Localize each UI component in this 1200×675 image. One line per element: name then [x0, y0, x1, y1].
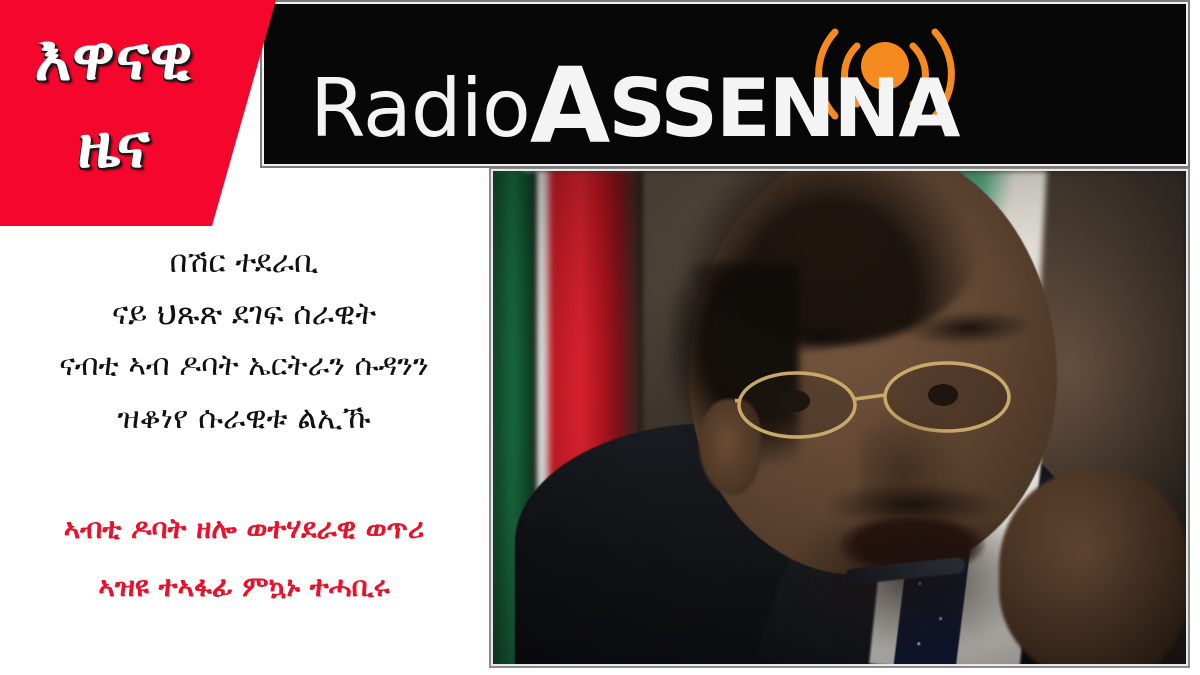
news-thumbnail-canvas: RadioASSENNA እዋናዊ ዜና [0, 0, 1200, 675]
logo-assenna-cap: A [530, 45, 609, 166]
logo-inner: RadioASSENNA [264, 4, 1186, 164]
headline-line-2: ናይ ህጹጽ ደገፍ ሰራዊት [0, 288, 488, 340]
logo-word-radio: Radio [310, 62, 530, 155]
radio-assenna-logo-bar: RadioASSENNA [262, 2, 1188, 166]
photo-vignette [493, 171, 1186, 664]
headline-line-3: ናብቲ ኣብ ዶባት ኤርትራን ሱዳንን [0, 340, 488, 392]
banner-label-line-2: ዜና [0, 102, 228, 190]
headline-text-block: በሽር ተደራቢ ናይ ህጹጽ ደገፍ ሰራዊት ናብቲ ኣብ ዶባት ኤርትራ… [0, 236, 488, 444]
logo-word-assenna: ASSENNA [530, 62, 959, 155]
logo-wordmark: RadioASSENNA [310, 54, 958, 158]
subheadline-line-1: ኣብቲ ዶባት ዘሎ ወተሃደራዊ ወጥሪ [0, 500, 488, 558]
banner-label-line-1: እዋናዊ [35, 21, 194, 94]
news-photo-frame [491, 169, 1188, 666]
news-photo [493, 171, 1186, 664]
headline-line-1: በሽር ተደራቢ [0, 236, 488, 288]
subheadline-line-2: ኣዝዩ ተኣፋፊ ምኳኑ ተሓቢሩ [0, 558, 488, 616]
headline-line-4: ዝቆነየ ሱራዊቱ ልኢኹ [0, 392, 488, 444]
subheadline-text-block: ኣብቲ ዶባት ዘሎ ወተሃደራዊ ወጥሪ ኣዝዩ ተኣፋፊ ምኳኑ ተሓቢሩ [0, 500, 488, 616]
breaking-news-banner: እዋናዊ ዜና [0, 0, 290, 226]
logo-assenna-rest: SSENNA [608, 62, 958, 155]
banner-label: እዋናዊ ዜና [0, 14, 228, 190]
